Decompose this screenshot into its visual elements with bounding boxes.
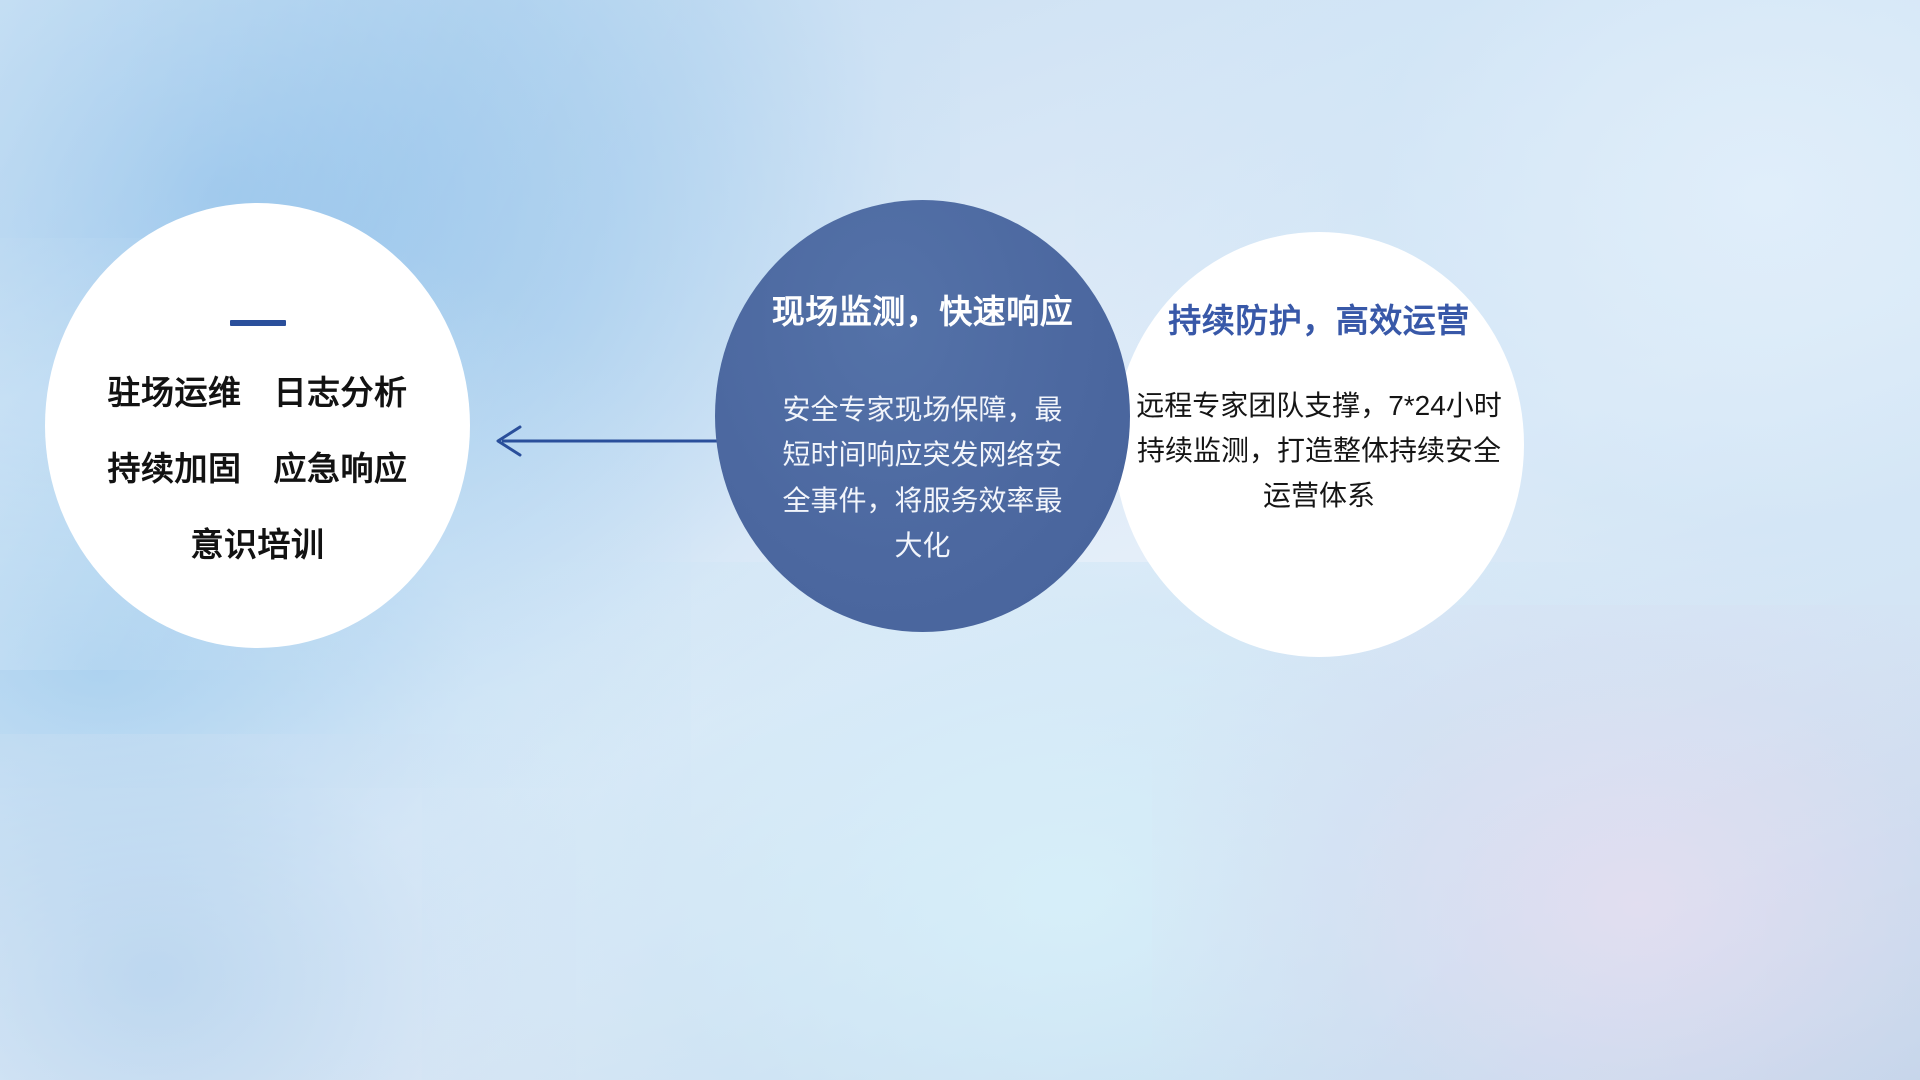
feature-body-right: 远程专家团队支撑，7*24小时持续监测，打造整体持续安全运营体系 [1134, 384, 1504, 518]
capability-tag: 应急响应 [274, 442, 408, 490]
feature-circle-continuous-protection: 持续防护，高效运营 远程专家团队支撑，7*24小时持续监测，打造整体持续安全运营… [1114, 232, 1524, 657]
capability-tag-list: 驻场运维 日志分析 持续加固 应急响应 意识培训 [108, 366, 408, 566]
feature-circle-onsite-monitoring: 现场监测，快速响应 安全专家现场保障，最短时间响应突发网络安全事件，将服务效率最… [715, 200, 1130, 632]
capability-row: 驻场运维 日志分析 [108, 366, 408, 414]
capability-tag: 持续加固 [108, 442, 242, 490]
capability-row: 意识培训 [191, 518, 325, 566]
feature-body-middle: 安全专家现场保障，最短时间响应突发网络安全事件，将服务效率最大化 [770, 387, 1075, 568]
short-dash-divider-icon [230, 320, 286, 326]
capability-row: 持续加固 应急响应 [108, 442, 408, 490]
feature-title-right: 持续防护，高效运营 [1168, 294, 1470, 342]
capability-tag: 日志分析 [274, 366, 408, 414]
background-wash-bottom-right [1152, 605, 1920, 1080]
capability-tag: 意识培训 [191, 518, 325, 566]
background-wash-bottom-left [0, 734, 576, 1080]
capability-circle-onsite-team: 驻场运维 日志分析 持续加固 应急响应 意识培训 [45, 203, 470, 648]
feature-title-middle: 现场监测，快速响应 [772, 285, 1074, 333]
capability-tag: 驻场运维 [108, 366, 242, 414]
